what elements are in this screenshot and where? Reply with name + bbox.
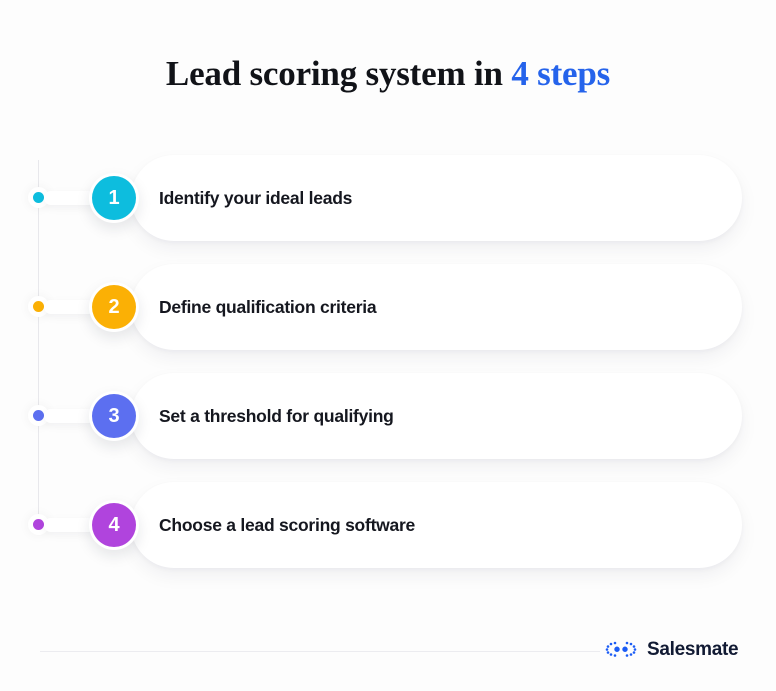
brand-name: Salesmate bbox=[647, 640, 738, 659]
step-number-badge-4: 4 bbox=[92, 503, 136, 547]
page-title: Lead scoring system in 4 steps bbox=[0, 54, 776, 94]
step-row-4[interactable]: 4 Choose a lead scoring software bbox=[0, 482, 776, 568]
step-number-badge-2: 2 bbox=[92, 285, 136, 329]
infographic-page: Lead scoring system in 4 steps 1 Identif… bbox=[0, 0, 776, 691]
step-label-4: Choose a lead scoring software bbox=[159, 482, 415, 568]
step-row-3[interactable]: 3 Set a threshold for qualifying bbox=[0, 373, 776, 459]
step-badge-wrap-3: 3 bbox=[89, 391, 139, 441]
step-label-2: Define qualification criteria bbox=[159, 264, 376, 350]
page-title-main: Lead scoring system in bbox=[166, 54, 511, 93]
step-badge-wrap-4: 4 bbox=[89, 500, 139, 550]
step-label-1: Identify your ideal leads bbox=[159, 155, 352, 241]
page-title-accent: 4 steps bbox=[511, 54, 610, 93]
step-number-badge-1: 1 bbox=[92, 176, 136, 220]
step-badge-wrap-1: 1 bbox=[89, 173, 139, 223]
step-label-3: Set a threshold for qualifying bbox=[159, 373, 394, 459]
step-row-2[interactable]: 2 Define qualification criteria bbox=[0, 264, 776, 350]
step-number-badge-3: 3 bbox=[92, 394, 136, 438]
footer-brand: Salesmate bbox=[604, 636, 738, 662]
salesmate-logo-icon bbox=[604, 639, 638, 659]
footer-divider bbox=[40, 651, 600, 652]
step-badge-wrap-2: 2 bbox=[89, 282, 139, 332]
step-row-1[interactable]: 1 Identify your ideal leads bbox=[0, 155, 776, 241]
